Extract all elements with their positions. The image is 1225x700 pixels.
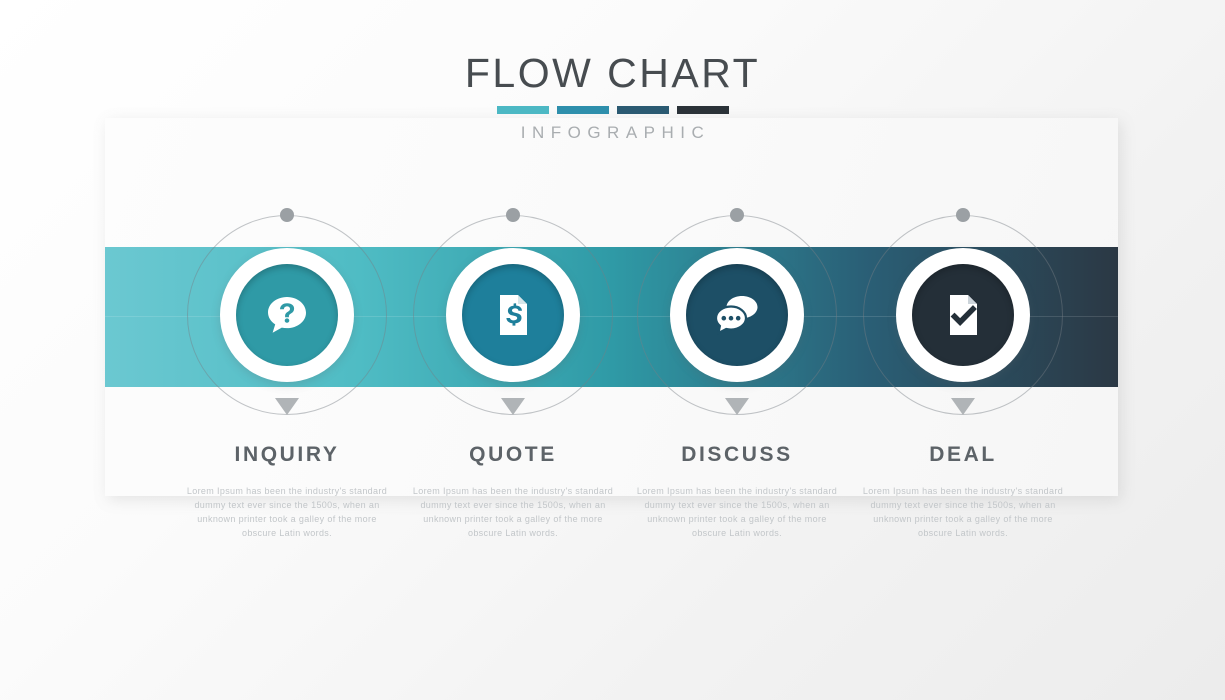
title-block: FLOW CHART INFOGRAPHIC [0, 52, 1225, 143]
ring-dot-icon [506, 208, 520, 222]
step-node-deal[interactable]: DEAL Lorem Ipsum has been the industry's… [848, 200, 1078, 560]
icon-disc-deal[interactable] [912, 264, 1014, 366]
accent-bar-1 [497, 106, 549, 114]
document-dollar-icon [488, 290, 538, 340]
step-label-inquiry: INQUIRY [172, 443, 402, 467]
triangle-pointer-icon [725, 398, 749, 415]
ring-dot-icon [730, 208, 744, 222]
step-label-deal: DEAL [848, 443, 1078, 467]
chat-bubbles-icon [710, 290, 764, 340]
triangle-pointer-icon [501, 398, 525, 415]
step-description-quote: Lorem Ipsum has been the industry's stan… [408, 485, 618, 541]
accent-bar-group [0, 106, 1225, 114]
step-description-deal: Lorem Ipsum has been the industry's stan… [858, 485, 1068, 541]
page-subtitle: INFOGRAPHIC [0, 123, 1225, 143]
triangle-pointer-icon [951, 398, 975, 415]
accent-bar-3 [617, 106, 669, 114]
ring-dot-icon [956, 208, 970, 222]
step-node-discuss[interactable]: DISCUSS Lorem Ipsum has been the industr… [622, 200, 852, 560]
ring-dot-icon [280, 208, 294, 222]
document-check-icon [938, 290, 988, 340]
step-description-discuss: Lorem Ipsum has been the industry's stan… [632, 485, 842, 541]
question-speech-bubble-icon [261, 289, 313, 341]
step-node-quote[interactable]: QUOTE Lorem Ipsum has been the industry'… [398, 200, 628, 560]
icon-disc-quote[interactable] [462, 264, 564, 366]
triangle-pointer-icon [275, 398, 299, 415]
icon-disc-inquiry[interactable] [236, 264, 338, 366]
page-title: FLOW CHART [0, 52, 1225, 95]
step-node-inquiry[interactable]: INQUIRY Lorem Ipsum has been the industr… [172, 200, 402, 560]
accent-bar-2 [557, 106, 609, 114]
step-label-discuss: DISCUSS [622, 443, 852, 467]
accent-bar-4 [677, 106, 729, 114]
step-label-quote: QUOTE [398, 443, 628, 467]
step-description-inquiry: Lorem Ipsum has been the industry's stan… [182, 485, 392, 541]
icon-disc-discuss[interactable] [686, 264, 788, 366]
